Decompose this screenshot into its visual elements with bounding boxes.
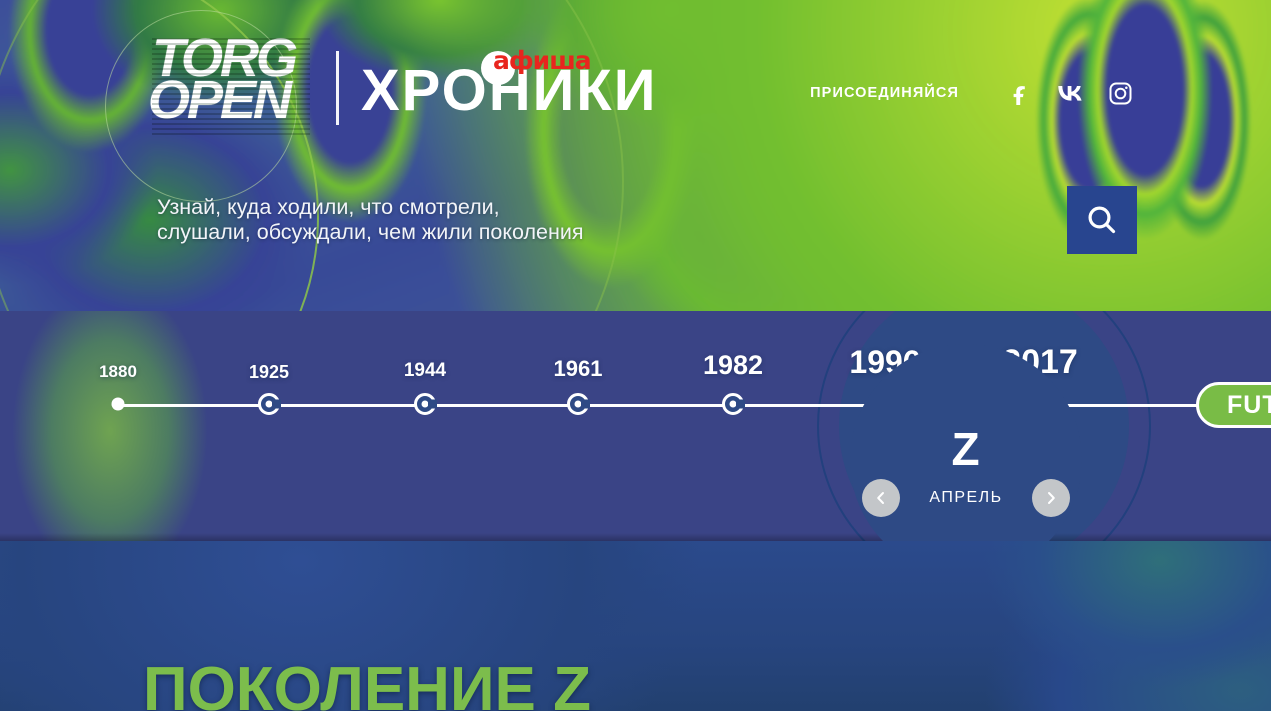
join-label: ПРИСОЕДИНЯЙСЯ [810, 85, 959, 101]
timeline-node-1880[interactable] [112, 398, 125, 411]
record-marker-icon [567, 393, 589, 415]
next-month-button[interactable] [1032, 479, 1070, 517]
hero-section: TORG OPEN ХРОНИКИ афиша ПРИСОЕДИНЯЙСЯ [0, 0, 1271, 311]
chevron-left-icon [873, 490, 889, 506]
instagram-icon[interactable] [1107, 80, 1133, 106]
record-marker-icon [722, 393, 744, 415]
tagline-line-2: слушали, обсуждали, чем жили поколения [157, 220, 584, 245]
timeline-node-1961[interactable] [567, 393, 589, 415]
generation-letter: Z [951, 422, 980, 476]
timeline-node-1925[interactable] [258, 393, 280, 415]
partner-logo-afisha[interactable]: афиша [493, 46, 591, 75]
social-nav: ПРИСОЕДИНЯЙСЯ [810, 80, 1133, 106]
vk-icon[interactable] [1057, 80, 1083, 106]
facebook-icon[interactable] [1007, 80, 1033, 106]
timeline-year-1944[interactable]: 1944 [404, 360, 446, 382]
logo-text-open: OPEN [148, 78, 289, 122]
chevron-right-icon [1043, 490, 1059, 506]
timeline-band [0, 311, 1271, 541]
record-marker-icon [414, 393, 436, 415]
tagline-line-1: Узнай, куда ходили, что смотрели, [157, 195, 584, 220]
search-icon [1084, 202, 1120, 238]
prev-month-button[interactable] [862, 479, 900, 517]
timeline-year-1925[interactable]: 1925 [249, 362, 289, 383]
timeline-year-1982[interactable]: 1982 [703, 350, 763, 381]
page-root: TORG OPEN ХРОНИКИ афиша ПРИСОЕДИНЯЙСЯ [0, 0, 1271, 711]
logo-mark: TORG OPEN [152, 38, 310, 138]
record-marker-icon [258, 393, 280, 415]
logo-divider [336, 51, 339, 125]
timeline-background [0, 311, 1271, 541]
timeline-node-1944[interactable] [414, 393, 436, 415]
generation-month: АПРЕЛЬ [929, 489, 1002, 507]
timeline-year-1961[interactable]: 1961 [554, 356, 603, 382]
timeline-start-dot [112, 398, 125, 411]
timeline-year-1880[interactable]: 1880 [99, 362, 137, 382]
search-button[interactable] [1067, 186, 1137, 254]
timeline-node-1982[interactable] [722, 393, 744, 415]
hero-tagline: Узнай, куда ходили, что смотрели, слушал… [157, 195, 584, 246]
future-button[interactable]: FUTURE [1196, 382, 1271, 428]
band-bottom-shadow [0, 533, 1271, 541]
page-title: ПОКОЛЕНИЕ Z [143, 654, 591, 711]
